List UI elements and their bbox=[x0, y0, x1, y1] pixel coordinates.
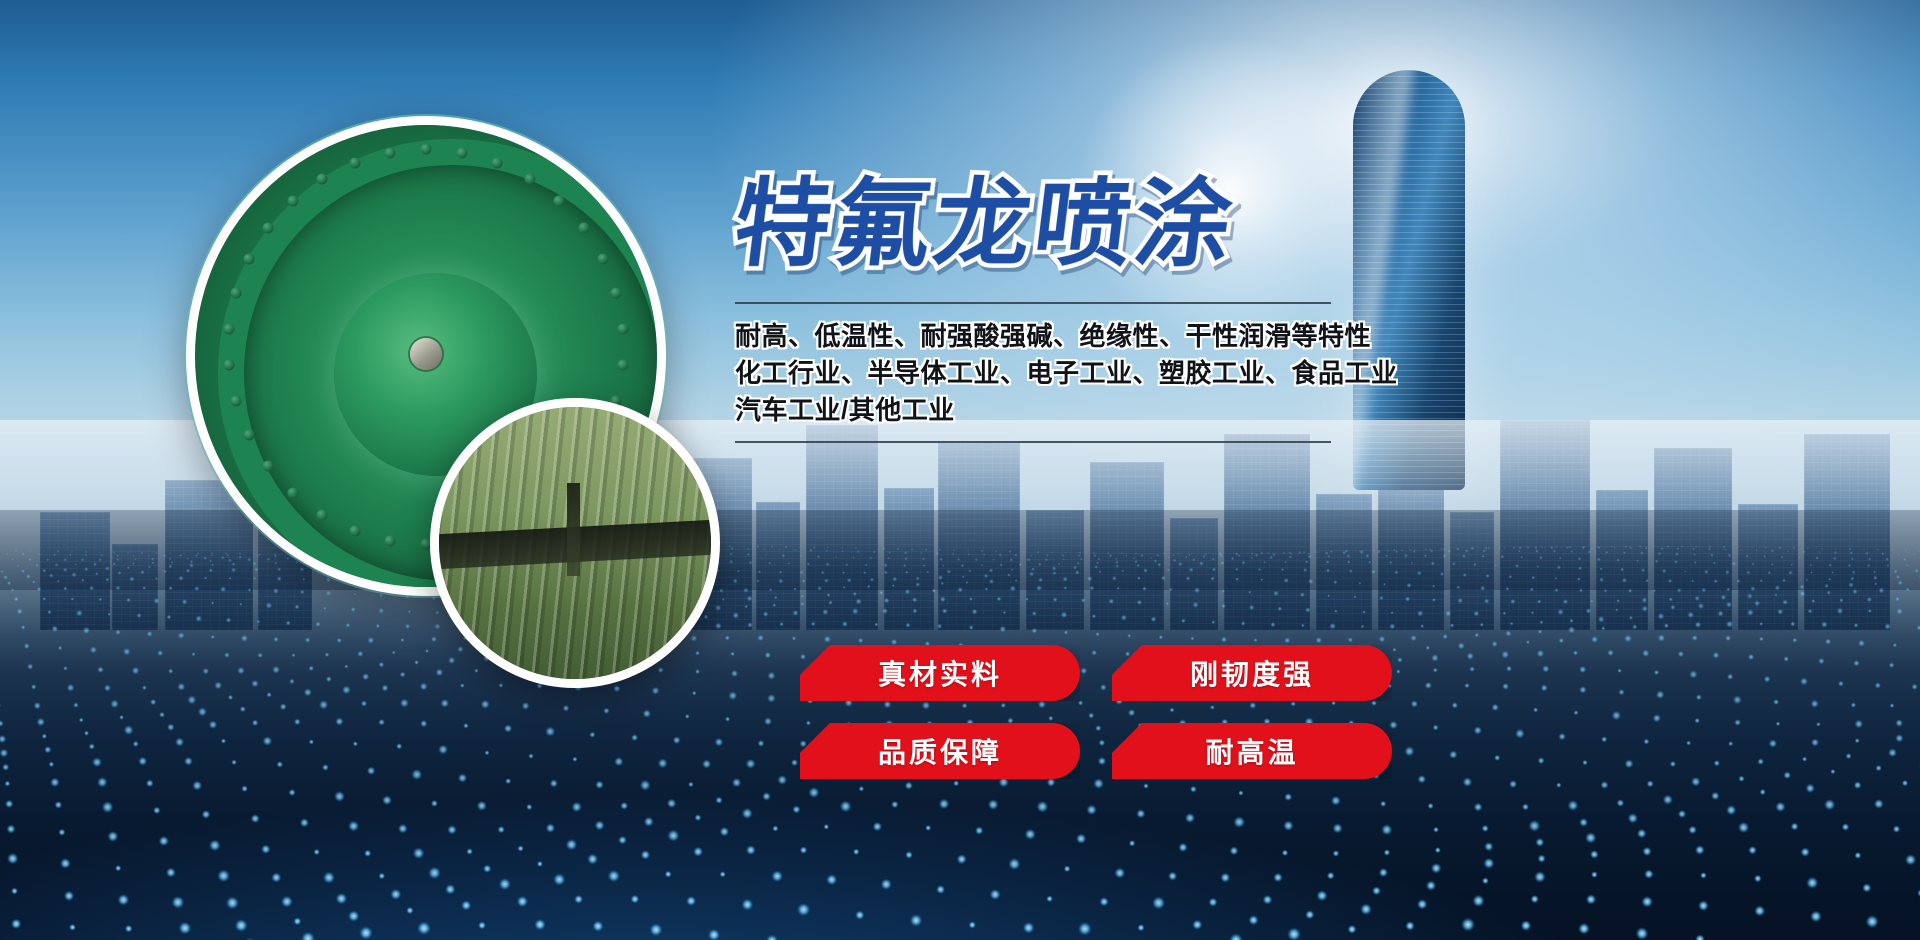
product-photo-plate bbox=[430, 398, 720, 688]
promo-banner: 特氟龙喷涂 耐高、低温性、耐强酸强碱、绝缘性、干性润滑等特性 化工行业、半导体工… bbox=[0, 0, 1920, 940]
description-line-2: 化工行业、半导体工业、电子工业、塑胶工业、食品工业 bbox=[735, 355, 1355, 392]
badge-high-toughness[interactable]: 刚韧度强 bbox=[1112, 645, 1392, 701]
description-line-1: 耐高、低温性、耐强酸强碱、绝缘性、干性润滑等特性 bbox=[735, 318, 1355, 355]
page-title: 特氟龙喷涂 bbox=[729, 176, 1361, 272]
badge-genuine-material[interactable]: 真材实料 bbox=[800, 645, 1080, 701]
badge-heat-resistant[interactable]: 耐高温 bbox=[1112, 723, 1392, 779]
feature-badge-group: 真材实料 刚韧度强 品质保障 耐高温 bbox=[800, 645, 1480, 779]
glass-tower bbox=[1353, 70, 1465, 490]
divider-top bbox=[735, 302, 1331, 304]
description-line-3: 汽车工业/其他工业 bbox=[735, 392, 1355, 429]
banner-content: 特氟龙喷涂 耐高、低温性、耐强酸强碱、绝缘性、干性润滑等特性 化工行业、半导体工… bbox=[735, 176, 1355, 443]
divider-bottom bbox=[735, 441, 1331, 443]
badge-quality-assurance[interactable]: 品质保障 bbox=[800, 723, 1080, 779]
